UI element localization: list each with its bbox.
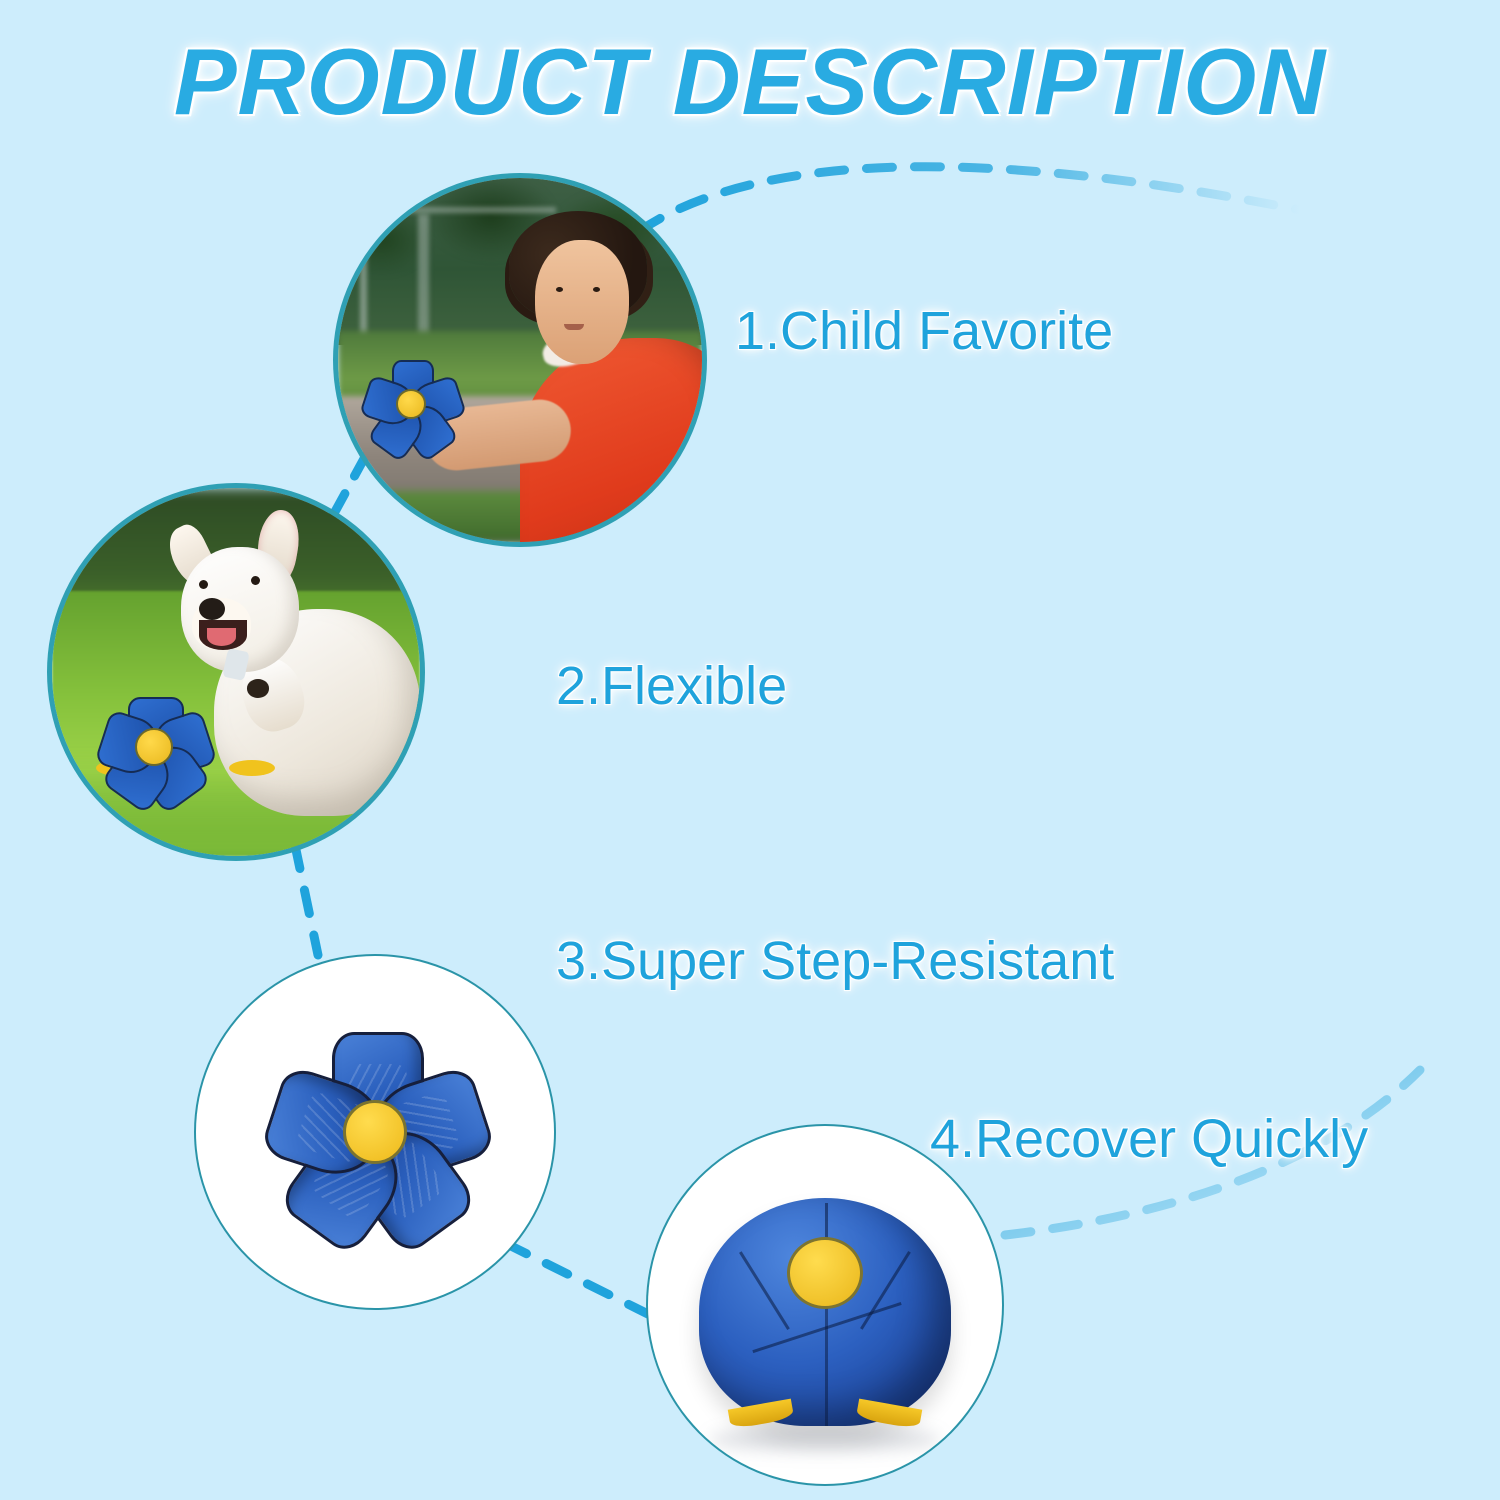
- infographic-canvas: PRODUCT DESCRIPTION: [0, 0, 1500, 1500]
- hub-icon: [135, 728, 173, 766]
- flat-disc-medium: [74, 687, 234, 807]
- page-title: PRODUCT DESCRIPTION: [0, 28, 1500, 136]
- paw-pad-icon: [247, 679, 269, 697]
- link-feature2-to-feature3-dashed: [295, 845, 318, 955]
- ball-shadow: [710, 1426, 940, 1452]
- ball-yellow-rim-left: [728, 1399, 795, 1430]
- hub-icon: [343, 1100, 407, 1164]
- dog-with-disc-scene: [52, 488, 420, 856]
- fence-post-icon: [418, 214, 429, 345]
- hub-icon: [787, 1237, 863, 1309]
- feature-3-image[interactable]: [196, 956, 554, 1308]
- flat-disc-small: [356, 349, 466, 459]
- child-face: [535, 240, 630, 364]
- feature-2-label: 2.Flexible: [556, 655, 787, 717]
- dog-tongue: [207, 628, 236, 646]
- mouth-icon: [564, 324, 584, 330]
- feature-3-label: 3.Super Step-Resistant: [556, 930, 1114, 992]
- dog-eye-right-icon: [251, 576, 260, 585]
- flat-flower-disc: [250, 1007, 500, 1257]
- feature-2-image[interactable]: [52, 488, 420, 856]
- dome-ball: [699, 1198, 951, 1426]
- flat-disc-product-scene: [196, 956, 554, 1308]
- feature-1-label: 1.Child Favorite: [735, 300, 1113, 362]
- dome-ball-product-scene: [648, 1126, 1002, 1484]
- hub-icon: [396, 389, 426, 419]
- ball-yellow-rim-right: [856, 1399, 923, 1430]
- feature-4-image[interactable]: [648, 1126, 1002, 1484]
- arc-top-right-dashed: [638, 167, 1300, 232]
- feature-4-label: 4.Recover Quickly: [930, 1108, 1368, 1170]
